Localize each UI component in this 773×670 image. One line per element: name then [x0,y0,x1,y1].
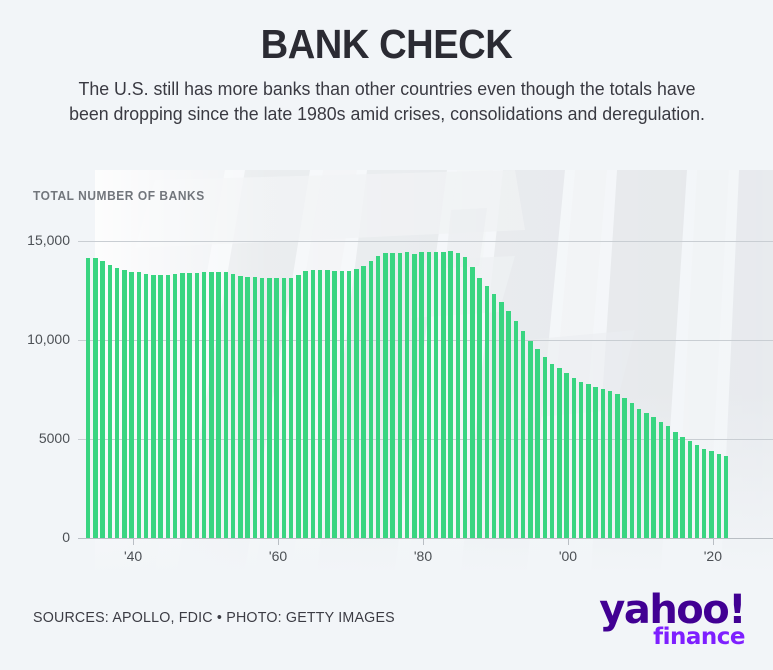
infographic-root: BANK CHECK The U.S. still has more banks… [0,0,773,670]
bar [441,252,445,538]
bar [463,257,467,538]
bar [666,426,670,538]
bar [361,266,365,538]
bar [477,278,481,538]
x-tick-1940 [133,539,134,545]
bar [456,253,460,538]
bar-chart: 0500010,00015,000 '40'60'80'00'20 [0,150,773,570]
page-subtitle: The U.S. still has more banks than other… [60,76,713,126]
bar [108,265,112,538]
bar [514,321,518,538]
bar [485,286,489,538]
bar [238,276,242,538]
bar [630,403,634,538]
bar [209,272,213,538]
bar [673,432,677,538]
bar [224,272,228,538]
bar [398,253,402,538]
bar [383,253,387,538]
bar [115,268,119,538]
bar [137,272,141,538]
bar [289,278,293,538]
bar [282,278,286,538]
bar [601,389,605,538]
bar [245,277,249,538]
bar [419,252,423,538]
bar [557,368,561,538]
x-tick-1960 [278,539,279,545]
bar [695,445,699,538]
bar [318,270,322,538]
bar [412,254,416,538]
bar [311,270,315,538]
x-tick-label-1960: '60 [258,548,298,564]
bar [615,394,619,538]
bar [688,441,692,538]
bar [151,275,155,538]
bar [724,456,728,538]
x-tick-2020 [713,539,714,545]
bar [390,253,394,538]
bar [216,272,220,538]
bar [303,271,307,538]
bar [608,391,612,538]
bar [521,331,525,538]
bar [448,251,452,538]
bar [434,252,438,538]
bar [267,278,271,538]
x-tick-label-2020: '20 [693,548,733,564]
bar [499,302,503,538]
bar [325,270,329,538]
bar [122,270,126,538]
bar [180,273,184,538]
bar [427,252,431,538]
bar [253,277,257,538]
bar [260,278,264,538]
bar [93,258,97,538]
bar [564,373,568,538]
bar [340,271,344,538]
bar [195,273,199,538]
bar [586,384,590,538]
bar [680,437,684,538]
bar [550,364,554,538]
bar [296,275,300,538]
bar [506,311,510,538]
bar [231,274,235,538]
bar [332,271,336,538]
bar [572,378,576,538]
sources-note: SOURCES: APOLLO, FDIC • PHOTO: GETTY IMA… [33,609,395,626]
bar [535,349,539,538]
bar [202,272,206,538]
bar [709,451,713,538]
bar [347,271,351,538]
bar [543,357,547,538]
bar [717,454,721,538]
page-title: BANK CHECK [27,0,746,66]
bar [173,274,177,538]
bar [86,258,90,538]
x-tick-1980 [423,539,424,545]
bar [702,449,706,538]
x-tick-2000 [568,539,569,545]
yahoo-finance-logo[interactable]: yahoo! finance [599,592,745,648]
bar [129,272,133,538]
bar [622,398,626,538]
bar [354,269,358,538]
bar [100,261,104,538]
bar [593,387,597,538]
bar [405,252,409,538]
bar [144,274,148,538]
bar [369,261,373,538]
bar [166,275,170,538]
x-tick-label-1940: '40 [113,548,153,564]
bar [470,267,474,538]
bar [274,278,278,538]
bar [644,413,648,538]
bar [187,273,191,538]
bar [528,341,532,538]
bar [659,422,663,538]
axis-baseline [78,538,773,539]
x-tick-label-2000: '00 [548,548,588,564]
bar [637,409,641,538]
bar-series [0,150,773,538]
bar [158,275,162,538]
logo-yahoo-text: yahoo! [599,592,745,628]
bar [651,417,655,538]
bar [492,294,496,538]
x-tick-label-1980: '80 [403,548,443,564]
bar [376,256,380,538]
header: BANK CHECK The U.S. still has more banks… [0,0,773,126]
bar [579,382,583,538]
